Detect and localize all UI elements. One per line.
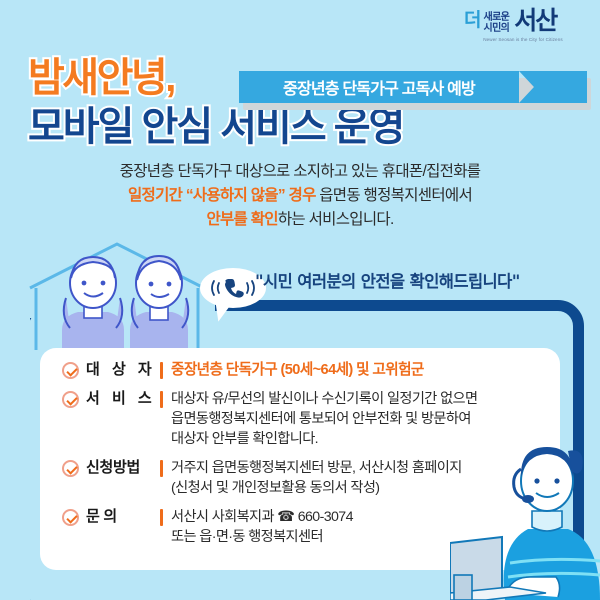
info-row-value-line: 대상자 안부를 확인합니다. (171, 429, 477, 449)
info-row-target: 대 상 자 중장년층 단독가구 (50세~64세) 및 고위험군 (62, 360, 562, 380)
info-row-value: 서산시 사회복지과 ☎ 660-3074 또는 읍·면·동 행정복지센터 (171, 507, 353, 547)
description-line-2-bold: 일정기간 “사용하지 않을” 경우 (128, 187, 316, 204)
info-row-value-line: (신청서 및 개인정보활용 동의서 작성) (171, 478, 462, 498)
page-title-line1: 밤새안녕, (28, 55, 174, 101)
page-title-line2: 모바일 안심 서비스 운영 (28, 104, 403, 150)
info-row-value: 중장년층 단독가구 (50세~64세) 및 고위험군 (171, 360, 424, 380)
description-line-2: 일정기간 “사용하지 않을” 경우 읍면동 행정복지센터에서 (0, 184, 600, 208)
info-row-value-line: 대상자 유/무선의 발신이나 수신기록이 일정기간 없으면 (171, 389, 477, 409)
ribbon-label: 중장년층 단독가구 고독사 예방 (239, 71, 519, 103)
description-line-2-rest: 읍면동 행정복지센터에서 (316, 187, 472, 204)
quote-text: "시민 여러분의 안전을 확인해드립니다" (255, 268, 520, 292)
house-illustration (22, 238, 212, 350)
divider-bar (160, 460, 163, 477)
check-circle-icon (62, 362, 79, 379)
divider-bar (160, 509, 163, 526)
info-row-value: 대상자 유/무선의 발신이나 수신기록이 일정기간 없으면 읍면동행정복지센터에… (171, 389, 477, 449)
elderly-person-right (130, 256, 188, 350)
divider-bar (160, 391, 163, 408)
description-line-3-rest: 하는 서비스입니다. (278, 211, 394, 228)
logo-city-name: 서산 (514, 10, 556, 32)
seosan-city-logo: 더 새로운 시민의 서산 Newer Seosan is the City fo… (464, 12, 582, 58)
logo-deo-text: 더 (464, 12, 480, 30)
check-circle-icon (62, 460, 79, 477)
info-row-value-line: 서산시 사회복지과 ☎ 660-3074 (171, 507, 353, 527)
info-row-value-line: 거주지 읍면동행정복지센터 방문, 서산시청 홈페이지 (171, 458, 462, 478)
logo-line2: 시민의 (483, 23, 509, 34)
logo-tagline: Newer Seosan is the City for Citizens (464, 37, 582, 42)
info-row-value-line: 읍면동행정복지센터에 통보되어 안부전화 및 방문하여 (171, 409, 477, 429)
description-line-3-bold: 안부를 확인 (206, 211, 277, 228)
info-row-label: 문 의 (86, 507, 160, 527)
elderly-person-left (62, 257, 124, 350)
poster-root: 더 새로운 시민의 서산 Newer Seosan is the City fo… (0, 0, 600, 600)
description-block: 중장년층 단독가구 대상으로 소지하고 있는 휴대폰/집전화를 일정기간 “사용… (0, 160, 600, 232)
divider-bar (160, 362, 163, 379)
info-row-value-line: 또는 읍·면·동 행정복지센터 (171, 527, 353, 547)
info-row-value-line: 중장년층 단독가구 (50세~64세) 및 고위험군 (171, 360, 424, 380)
description-line-3: 안부를 확인하는 서비스입니다. (0, 208, 600, 232)
info-row-label: 대 상 자 (86, 360, 160, 380)
check-circle-icon (62, 391, 79, 408)
description-line-1: 중장년층 단독가구 대상으로 소지하고 있는 휴대폰/집전화를 (0, 160, 600, 184)
logo-line1: 새로운 (483, 12, 509, 23)
call-center-agent-illustration (450, 425, 600, 600)
info-row-label: 서 비 스 (86, 389, 160, 409)
check-circle-icon (62, 509, 79, 526)
info-row-value: 거주지 읍면동행정복지센터 방문, 서산시청 홈페이지 (신청서 및 개인정보활… (171, 458, 462, 498)
info-row-label: 신청방법 (86, 458, 160, 478)
